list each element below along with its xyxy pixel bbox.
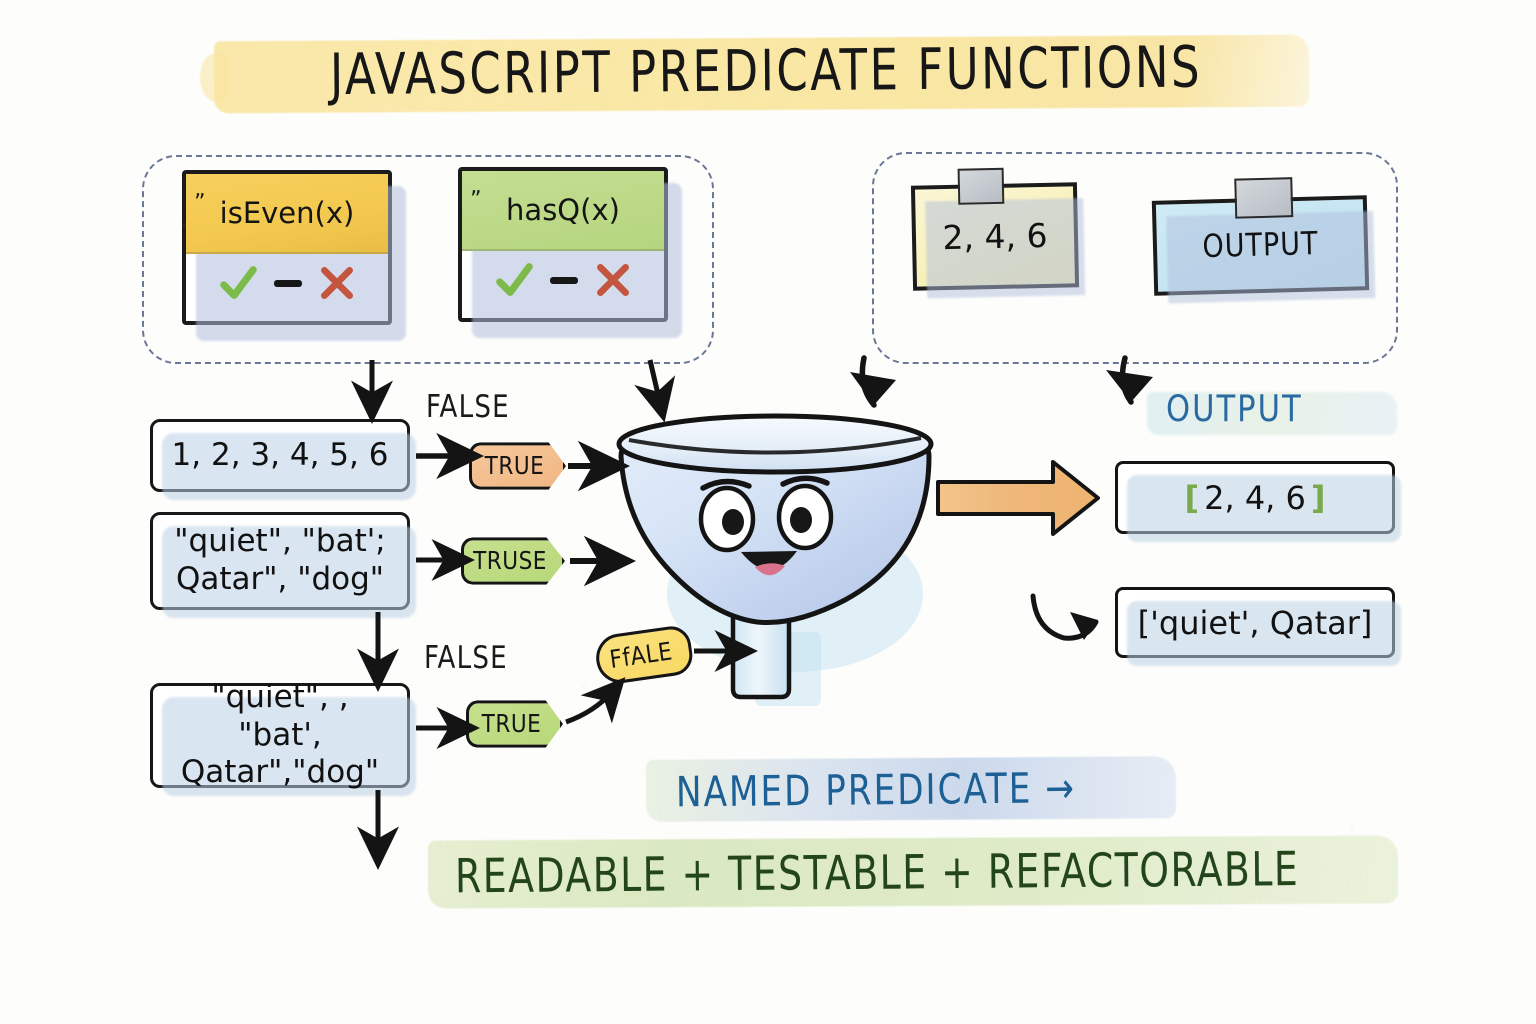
output-value: ['quiet', Qatar]	[1138, 604, 1373, 642]
diagram-canvas: JAVASCRIPT PREDICATE FUNCTIONS “ isEven(…	[0, 0, 1536, 1024]
sticky-note-output[interactable]: OUTPUT	[1152, 195, 1369, 296]
output-box-numbers[interactable]: [ 2, 4, 6 ]	[1115, 461, 1395, 534]
output-value: 2, 4, 6	[1204, 479, 1306, 517]
card-header: “ isEven(x)	[186, 174, 388, 254]
bracket-open: [	[1179, 479, 1204, 517]
card-title: hasQ(x)	[462, 193, 664, 227]
dash-icon	[550, 277, 578, 284]
qualities-banner: READABLE + TESTABLE + REFACTORABLE	[455, 841, 1300, 903]
check-icon	[219, 264, 257, 302]
tag-true-numbers[interactable]: TRUE	[469, 442, 566, 489]
dash-icon	[274, 280, 302, 287]
label-false-top: FALSE	[426, 388, 510, 425]
arrow-hasq-down	[650, 360, 660, 403]
input-text-line2: Qatar","dog"	[165, 754, 395, 792]
arrow-note-246-head	[850, 372, 896, 405]
predicate-card-hasq[interactable]: “ hasQ(x)	[458, 167, 668, 322]
bracket-close: ]	[1306, 479, 1331, 517]
note-label: OUTPUT	[1202, 225, 1319, 265]
input-box-strings-a[interactable]: "quiet", "bat'; Qatar", "dog"	[150, 512, 410, 610]
cross-icon	[319, 265, 355, 301]
tape-icon	[1234, 177, 1293, 219]
sticky-note-input-values[interactable]: 2, 4, 6	[911, 182, 1079, 290]
input-text-line1: "quiet", , "bat',	[165, 679, 395, 755]
card-title: isEven(x)	[186, 196, 388, 230]
card-header: “ hasQ(x)	[462, 171, 664, 251]
tape-icon	[958, 168, 1005, 205]
note-label: 2, 4, 6	[942, 216, 1048, 257]
tag-true-strings-b[interactable]: TRUE	[466, 700, 563, 747]
input-text: 1, 2, 3, 4, 5, 6	[172, 437, 389, 475]
input-text-line1: "quiet", "bat';	[174, 523, 385, 561]
page-title: JAVASCRIPT PREDICATE FUNCTIONS	[214, 34, 1314, 114]
input-box-strings-b[interactable]: "quiet", , "bat', Qatar","dog"	[150, 683, 410, 788]
named-predicate-banner: NAMED PREDICATE →	[676, 764, 1076, 817]
check-icon	[495, 261, 533, 299]
output-box-strings[interactable]: ['quiet', Qatar]	[1115, 587, 1395, 658]
input-text-line2: Qatar", "dog"	[174, 561, 385, 599]
arrow-note-246-down	[862, 358, 874, 405]
output-heading: OUTPUT	[1166, 387, 1303, 430]
title-text: JAVASCRIPT PREDICATE FUNCTIONS	[266, 34, 1267, 109]
arrow-note-output-head	[1106, 370, 1153, 402]
cross-icon	[595, 262, 631, 298]
predicate-card-iseven[interactable]: “ isEven(x)	[182, 170, 392, 325]
arrow-hook-to-strings-output	[1033, 596, 1098, 640]
tag-truse-strings-a[interactable]: TRUSE	[461, 537, 565, 584]
card-marks-row	[462, 261, 664, 299]
card-marks-row	[186, 264, 388, 302]
input-box-numbers[interactable]: 1, 2, 3, 4, 5, 6	[150, 419, 410, 492]
label-false-bottom: FALSE	[424, 639, 508, 676]
arrow-note-output-down	[1123, 358, 1131, 402]
